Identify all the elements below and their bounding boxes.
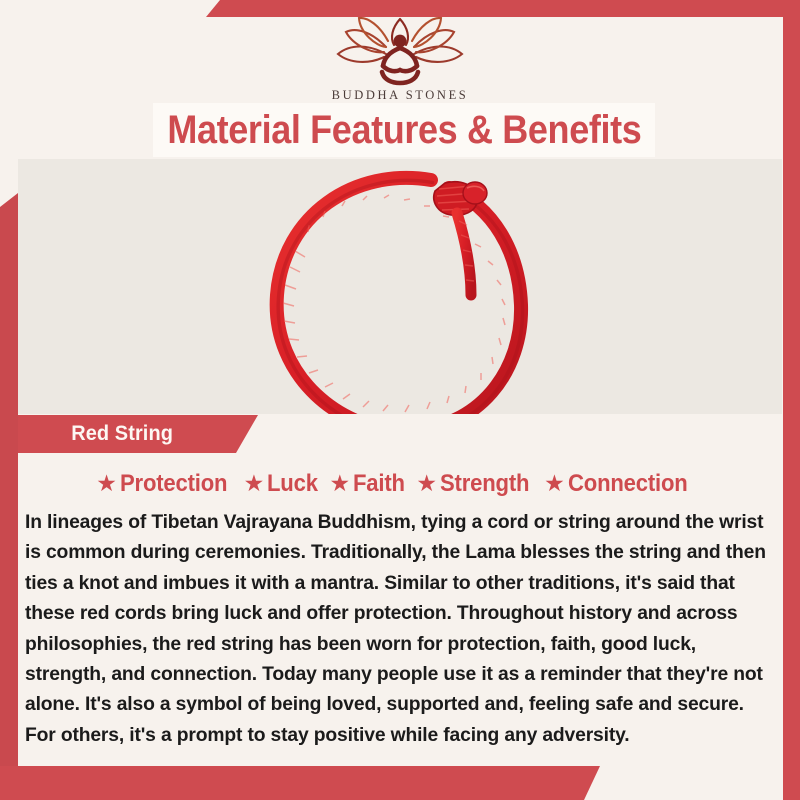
benefit-item: ★ Connection xyxy=(544,470,698,498)
benefit-label: Connection xyxy=(568,470,688,498)
benefit-item: ★ Luck xyxy=(244,470,323,498)
lotus-meditation-figure-icon xyxy=(326,14,474,86)
decor-bar-left xyxy=(0,193,18,800)
description-paragraph: In lineages of Tibetan Vajrayana Buddhis… xyxy=(25,508,775,751)
star-icon: ★ xyxy=(244,472,265,495)
benefit-item: ★ Faith xyxy=(329,470,409,498)
star-icon: ★ xyxy=(544,472,565,495)
product-label-ribbon: Red String xyxy=(18,415,258,453)
star-icon: ★ xyxy=(96,472,117,495)
benefit-label: Faith xyxy=(353,470,405,498)
benefit-label: Luck xyxy=(267,470,318,498)
product-photo xyxy=(18,159,782,414)
benefit-label: Protection xyxy=(120,470,227,498)
brand-lockup: BUDDHA STONES xyxy=(0,14,800,103)
benefit-item: ★ Strength xyxy=(416,470,537,498)
infographic-poster: BUDDHA STONES Material Features & Benefi… xyxy=(0,0,800,800)
benefit-label: Strength xyxy=(440,470,529,498)
product-label-text: Red String xyxy=(18,422,173,446)
decor-bar-bottom xyxy=(0,766,600,800)
brand-name: BUDDHA STONES xyxy=(332,88,469,103)
benefits-row: ★ Protection ★ Luck ★ Faith ★ Strength ★… xyxy=(18,463,782,505)
star-icon: ★ xyxy=(329,472,350,495)
red-string-bracelet-illustration xyxy=(235,159,565,414)
headline-band: Material Features & Benefits xyxy=(153,103,655,157)
star-icon: ★ xyxy=(416,472,437,495)
benefit-item: ★ Protection xyxy=(96,470,236,498)
page-title: Material Features & Benefits xyxy=(167,110,641,150)
decor-bar-right xyxy=(783,0,800,800)
